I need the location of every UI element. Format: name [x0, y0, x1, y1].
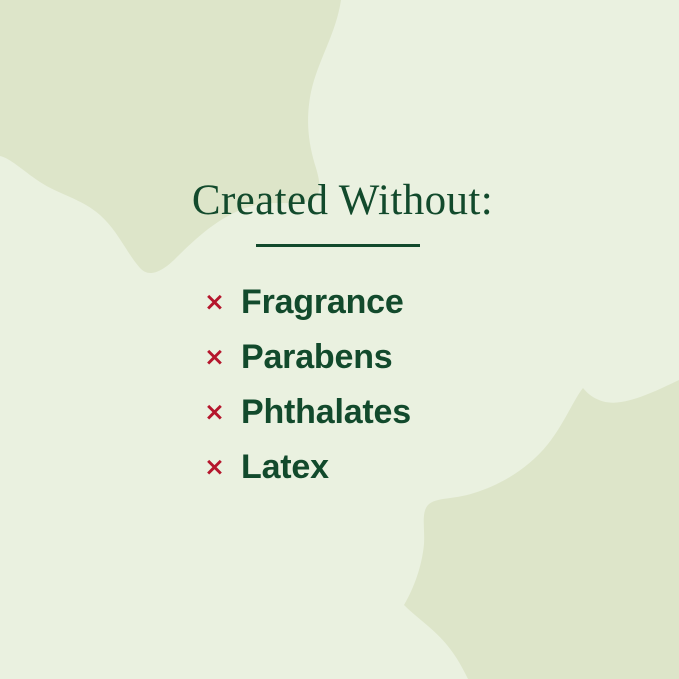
title-divider: [256, 244, 420, 247]
page-title: Created Without:: [0, 178, 679, 224]
x-mark-icon: ×: [203, 343, 229, 371]
list-item-label: Latex: [229, 449, 411, 485]
x-mark-icon: ×: [203, 288, 229, 316]
list-item-label: Parabens: [229, 339, 411, 375]
list-item-label: Fragrance: [229, 284, 411, 320]
list-item: × Parabens: [203, 329, 411, 384]
list-item: × Latex: [203, 439, 411, 494]
x-mark-icon: ×: [203, 398, 229, 426]
card-content: Created Without: × Fragrance × Parabens …: [0, 0, 679, 679]
excluded-ingredients-list: × Fragrance × Parabens × Phthalates × La…: [203, 274, 411, 494]
list-item-label: Phthalates: [229, 394, 411, 430]
x-mark-icon: ×: [203, 453, 229, 481]
list-item: × Fragrance: [203, 274, 411, 329]
list-item: × Phthalates: [203, 384, 411, 439]
created-without-card: Created Without: × Fragrance × Parabens …: [0, 0, 679, 679]
